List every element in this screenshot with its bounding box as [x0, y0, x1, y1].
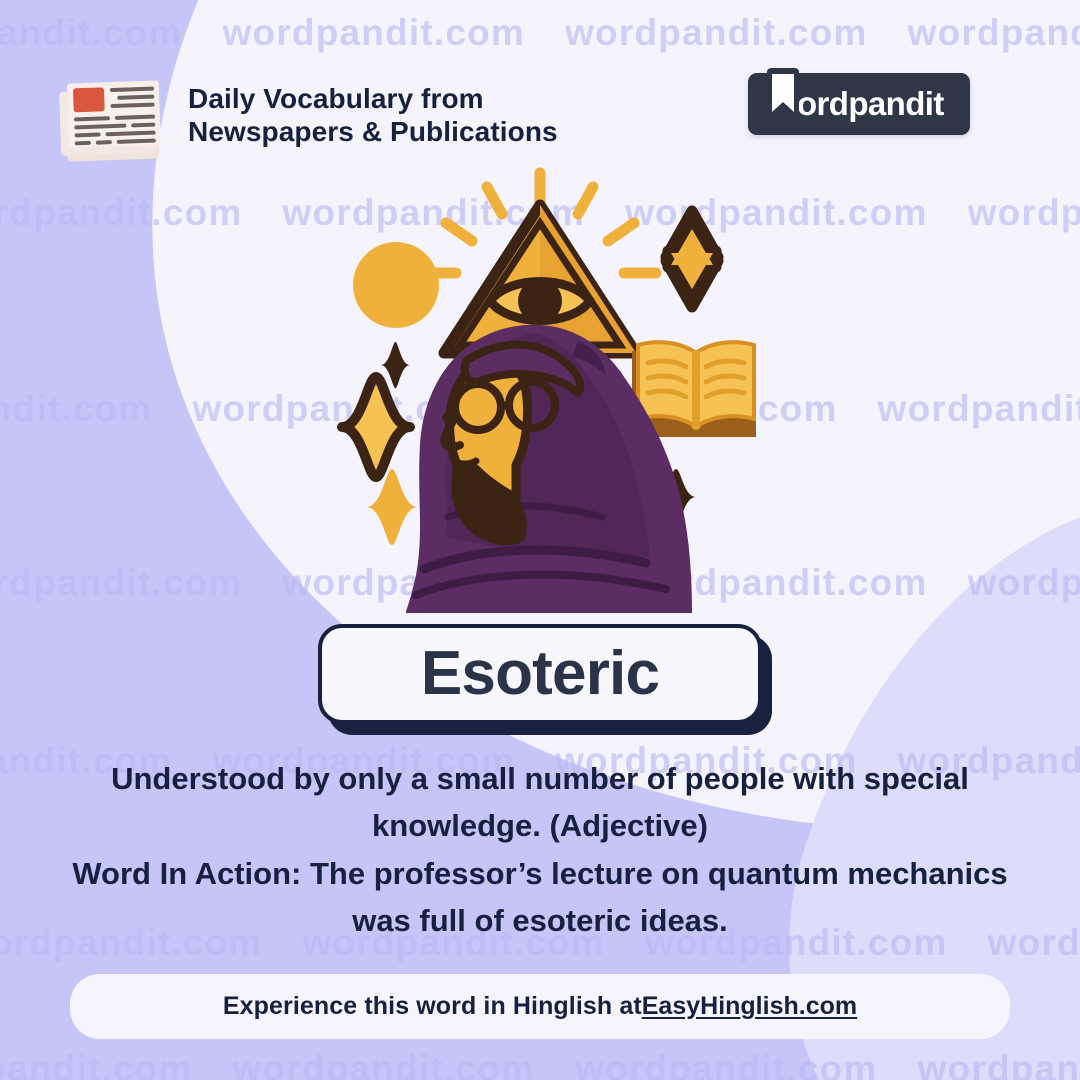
newspaper-icon	[52, 68, 177, 168]
header: Daily Vocabulary from Newspapers & Publi…	[0, 60, 1080, 175]
star-of-david-icon	[666, 211, 718, 307]
definition-text: Understood by only a small number of peo…	[0, 756, 1080, 849]
brand-logo-text: ordpandit	[797, 85, 944, 123]
mystic-illustration	[320, 165, 760, 615]
sun-circle-icon	[353, 242, 439, 328]
footer-prefix-text: Experience this word in Hinglish at	[223, 992, 642, 1021]
header-title: Daily Vocabulary from Newspapers & Publi…	[188, 82, 558, 148]
word-card-wrapper: Esoteric	[318, 624, 762, 724]
word-title: Esoteric	[421, 643, 659, 705]
sparkle-icon	[342, 377, 410, 477]
header-title-line1: Daily Vocabulary from	[188, 82, 558, 115]
bookmark-icon	[764, 68, 802, 124]
header-title-line2: Newspapers & Publications	[188, 115, 558, 148]
usage-text: Word In Action: The professor’s lecture …	[0, 851, 1080, 944]
easyhinglish-link[interactable]: EasyHinglish.com	[642, 992, 857, 1021]
definition-block: Understood by only a small number of peo…	[0, 756, 1080, 944]
hinglish-footer-bar[interactable]: Experience this word in Hinglish at Easy…	[70, 974, 1010, 1039]
word-card: Esoteric	[318, 624, 762, 724]
brand-logo[interactable]: ordpandit	[748, 73, 970, 135]
